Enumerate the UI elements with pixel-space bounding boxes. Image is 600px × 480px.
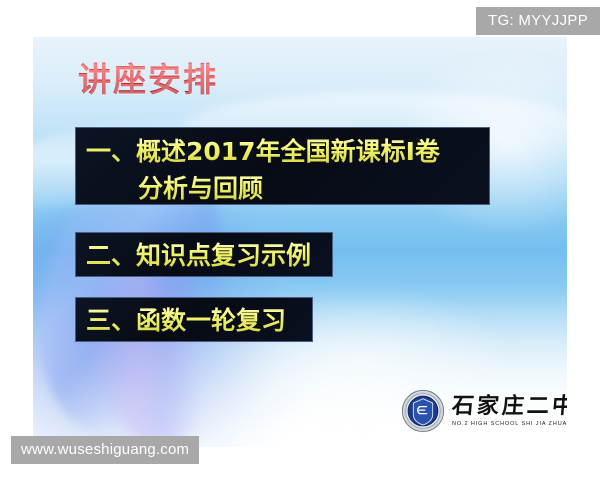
school-emblem-icon bbox=[401, 389, 445, 433]
school-name-chinese: 石家庄二中 bbox=[451, 395, 567, 417]
school-name-english: NO.2 HIGH SCHOOL SHI JIA ZHUANG bbox=[452, 421, 567, 427]
telegram-watermark-badge: TG: MYYJJPP bbox=[476, 7, 600, 35]
agenda-item-1: 一、概述2017年全国新课标Ⅰ卷 分析与回顾 bbox=[75, 127, 490, 205]
agenda-item-2-line1: 二、知识点复习示例 bbox=[86, 238, 322, 274]
agenda-item-3-line1: 三、函数一轮复习 bbox=[86, 303, 302, 339]
agenda-item-3: 三、函数一轮复习 bbox=[75, 297, 313, 342]
school-logo: 石家庄二中 NO.2 HIGH SCHOOL SHI JIA ZHUANG bbox=[401, 382, 561, 440]
agenda-item-1-line2: 分析与回顾 bbox=[86, 170, 479, 207]
agenda-item-1-line1: 一、概述2017年全国新课标Ⅰ卷 bbox=[86, 133, 479, 170]
website-watermark: www.wuseshiguang.com bbox=[11, 436, 199, 464]
slide-title: 讲座安排 bbox=[78, 62, 218, 98]
agenda-item-2: 二、知识点复习示例 bbox=[75, 232, 333, 277]
presentation-slide: 讲座安排 一、概述2017年全国新课标Ⅰ卷 分析与回顾 二、知识点复习示例 三、… bbox=[33, 37, 567, 447]
school-name-block: 石家庄二中 NO.2 HIGH SCHOOL SHI JIA ZHUANG bbox=[452, 395, 567, 427]
